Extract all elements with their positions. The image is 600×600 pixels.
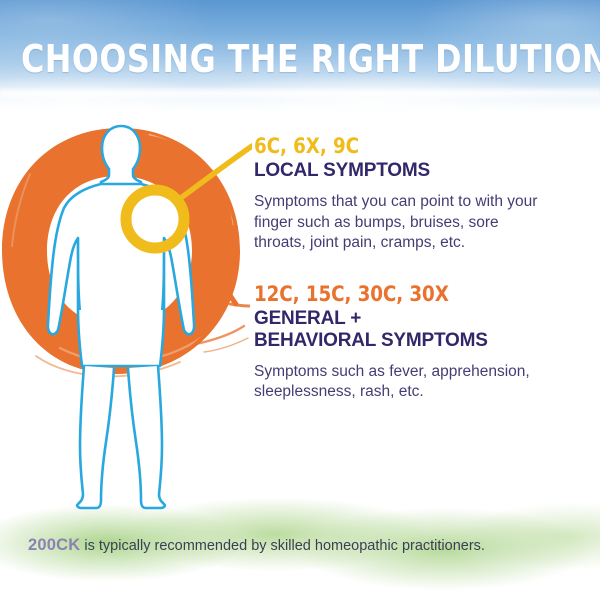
symptom-blocks: 6C, 6X, 9C LOCAL SYMPTOMS Symptoms that …	[254, 134, 584, 403]
footer-strength-label: 200CK	[28, 536, 80, 554]
symptom-kind-general-line2: BEHAVIORAL SYMPTOMS	[254, 330, 584, 352]
header-white-streak	[0, 86, 600, 102]
symptom-description-general: Symptoms such as fever, apprehension, sl…	[254, 362, 554, 403]
dose-label-general: 12C, 15C, 30C, 30X	[254, 282, 574, 306]
orange-brush-tick-icon	[220, 284, 250, 310]
infographic-page: CHOOSING THE RIGHT DILUTION	[0, 0, 600, 600]
symptom-block-local: 6C, 6X, 9C LOCAL SYMPTOMS Symptoms that …	[254, 134, 584, 254]
dose-label-local: 6C, 6X, 9C	[254, 134, 574, 158]
body-illustration	[0, 112, 252, 512]
symptom-kind-local: LOCAL SYMPTOMS	[254, 160, 584, 182]
footer-note-text: is typically recommended by skilled home…	[80, 538, 485, 554]
symptom-block-general: 12C, 15C, 30C, 30X GENERAL + BEHAVIORAL …	[254, 282, 584, 403]
page-title: CHOOSING THE RIGHT DILUTION	[21, 38, 579, 80]
symptom-kind-general-line1: GENERAL +	[254, 308, 584, 330]
footer-note: 200CK is typically recommended by skille…	[28, 536, 588, 555]
symptom-description-local: Symptoms that you can point to with your…	[254, 192, 554, 254]
